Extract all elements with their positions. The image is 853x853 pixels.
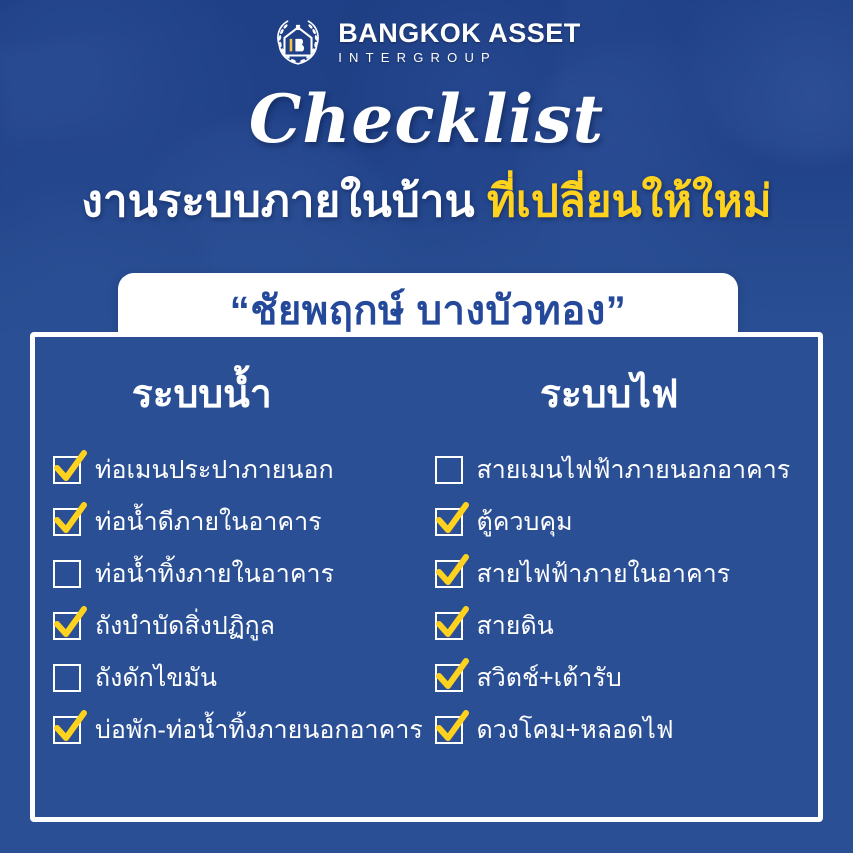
checkbox-checked[interactable] bbox=[435, 508, 463, 536]
list-item-label: ดวงโคม+หลอดไฟ bbox=[477, 718, 674, 743]
list-item[interactable]: สายเมนไฟฟ้าภายนอกอาคาร bbox=[435, 450, 819, 490]
project-name-text: “ชัยพฤกษ์ บางบัวทอง” bbox=[230, 291, 627, 331]
list-item-label: ท่อเมนประปาภายนอก bbox=[95, 458, 334, 483]
list-item[interactable]: สวิตช์+เต้ารับ bbox=[435, 658, 819, 698]
list-item-label: บ่อพัก-ท่อน้ำทิ้งภายนอกอาคาร bbox=[95, 718, 423, 743]
list-item-label: ท่อน้ำดีภายในอาคาร bbox=[95, 510, 322, 535]
list-item-label: ตู้ควบคุม bbox=[477, 510, 573, 535]
column-heading-water: ระบบน้ำ bbox=[35, 375, 427, 414]
checkbox-checked[interactable] bbox=[53, 456, 81, 484]
page-title: Checklist bbox=[0, 80, 853, 158]
brand-wordmark: BANGKOK ASSET INTERGROUP bbox=[338, 20, 581, 64]
list-item[interactable]: ถังบำบัดสิ่งปฏิกูล bbox=[53, 606, 427, 646]
checkbox-checked[interactable] bbox=[435, 560, 463, 588]
checklist-items-electrical: สายเมนไฟฟ้าภายนอกอาคาร ตู้ควบคุม สายไฟฟ้… bbox=[427, 450, 819, 750]
subtitle-white-part: งานระบบภายในบ้าน bbox=[81, 177, 474, 226]
column-heading-electrical: ระบบไฟ bbox=[427, 375, 819, 414]
poster-canvas: BANGKOK ASSET INTERGROUP Checklist งานระ… bbox=[0, 0, 853, 853]
checkbox-checked[interactable] bbox=[435, 664, 463, 692]
list-item-label: ท่อน้ำทิ้งภายในอาคาร bbox=[95, 562, 334, 587]
checkbox-checked[interactable] bbox=[53, 612, 81, 640]
list-item-label: สายไฟฟ้าภายในอาคาร bbox=[477, 562, 731, 587]
list-item-label: ถังดักไขมัน bbox=[95, 666, 217, 691]
list-item-label: สวิตช์+เต้ารับ bbox=[477, 666, 622, 691]
checkbox-unchecked[interactable] bbox=[435, 456, 463, 484]
checkbox-checked[interactable] bbox=[435, 612, 463, 640]
checkbox-checked[interactable] bbox=[53, 716, 81, 744]
list-item-label: ถังบำบัดสิ่งปฏิกูล bbox=[95, 614, 275, 639]
list-item-label: สายดิน bbox=[477, 614, 554, 639]
brand-tagline: INTERGROUP bbox=[338, 51, 581, 64]
list-item[interactable]: ท่อน้ำดีภายในอาคาร bbox=[53, 502, 427, 542]
brand-logo: BANGKOK ASSET INTERGROUP bbox=[0, 16, 853, 68]
checkbox-unchecked[interactable] bbox=[53, 664, 81, 692]
list-item[interactable]: ท่อน้ำทิ้งภายในอาคาร bbox=[53, 554, 427, 594]
wreath-house-monogram-icon bbox=[272, 16, 324, 68]
brand-name: BANGKOK ASSET bbox=[338, 20, 581, 47]
list-item[interactable]: ถังดักไขมัน bbox=[53, 658, 427, 698]
list-item[interactable]: ดวงโคม+หลอดไฟ bbox=[435, 710, 819, 750]
checklist-columns: ระบบน้ำ ท่อเมนประปาภายนอก ท่อน้ำดีภายในอ… bbox=[35, 337, 818, 817]
list-item-label: สายเมนไฟฟ้าภายนอกอาคาร bbox=[477, 458, 791, 483]
checkbox-unchecked[interactable] bbox=[53, 560, 81, 588]
checklist-frame: ระบบน้ำ ท่อเมนประปาภายนอก ท่อน้ำดีภายในอ… bbox=[30, 332, 823, 822]
checklist-column-electrical: ระบบไฟ สายเมนไฟฟ้าภายนอกอาคาร ตู้ควบคุม bbox=[427, 337, 819, 817]
list-item[interactable]: บ่อพัก-ท่อน้ำทิ้งภายนอกอาคาร bbox=[53, 710, 427, 750]
list-item[interactable]: ตู้ควบคุม bbox=[435, 502, 819, 542]
list-item[interactable]: สายดิน bbox=[435, 606, 819, 646]
checklist-items-water: ท่อเมนประปาภายนอก ท่อน้ำดีภายในอาคาร ท่อ… bbox=[35, 450, 427, 750]
list-item[interactable]: สายไฟฟ้าภายในอาคาร bbox=[435, 554, 819, 594]
checkbox-checked[interactable] bbox=[435, 716, 463, 744]
checkbox-checked[interactable] bbox=[53, 508, 81, 536]
page-subtitle: งานระบบภายในบ้าน ที่เปลี่ยนให้ใหม่ bbox=[0, 178, 853, 226]
checklist-column-water: ระบบน้ำ ท่อเมนประปาภายนอก ท่อน้ำดีภายในอ… bbox=[35, 337, 427, 817]
list-item[interactable]: ท่อเมนประปาภายนอก bbox=[53, 450, 427, 490]
subtitle-yellow-part: ที่เปลี่ยนให้ใหม่ bbox=[487, 177, 772, 226]
